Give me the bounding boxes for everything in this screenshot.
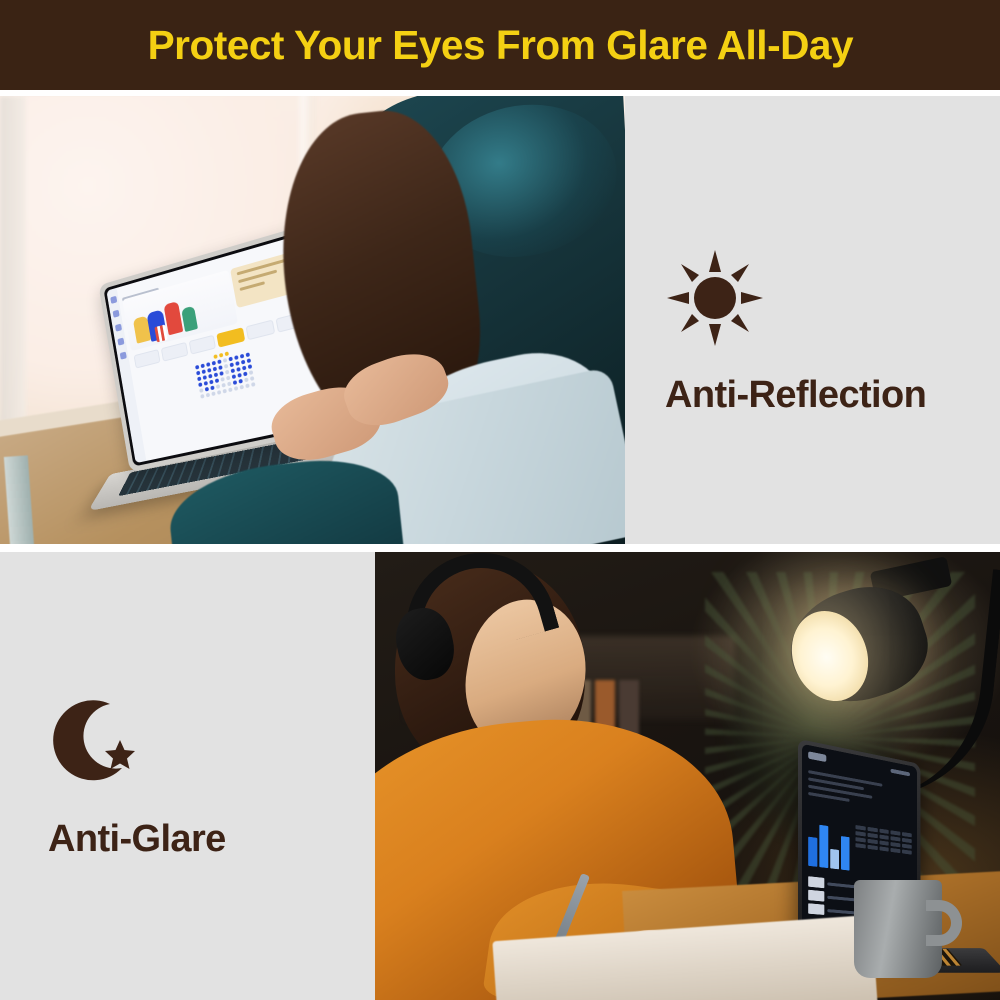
window-frame [0, 96, 26, 426]
app-logo-icon [808, 751, 826, 762]
top-row: Anti-Reflection [0, 96, 1000, 544]
anti-glare-label: Anti-Glare [48, 818, 226, 861]
menu-icon [891, 769, 910, 777]
row-divider [0, 544, 1000, 552]
bar-chart [808, 818, 849, 871]
product-feature-banner: Protect Your Eyes From Glare All-Day [0, 0, 1000, 1000]
nighttime-photo [375, 552, 1000, 1000]
page-title: Protect Your Eyes From Glare All-Day [147, 22, 853, 69]
coffee-mug [854, 874, 962, 978]
anti-glare-panel: Anti-Glare [0, 552, 375, 1000]
daytime-photo [0, 96, 625, 544]
sun-icon [665, 248, 775, 348]
anti-glare-content: Anti-Glare [48, 692, 226, 861]
bottom-row: Anti-Glare [0, 552, 1000, 1000]
header-banner: Protect Your Eyes From Glare All-Day [0, 0, 1000, 90]
anti-reflection-label: Anti-Reflection [665, 374, 926, 417]
anti-reflection-content: Anti-Reflection [665, 248, 926, 417]
anti-reflection-panel: Anti-Reflection [625, 96, 1000, 544]
crescent-moon-star-icon [48, 692, 158, 792]
calendar-grid [855, 825, 911, 857]
